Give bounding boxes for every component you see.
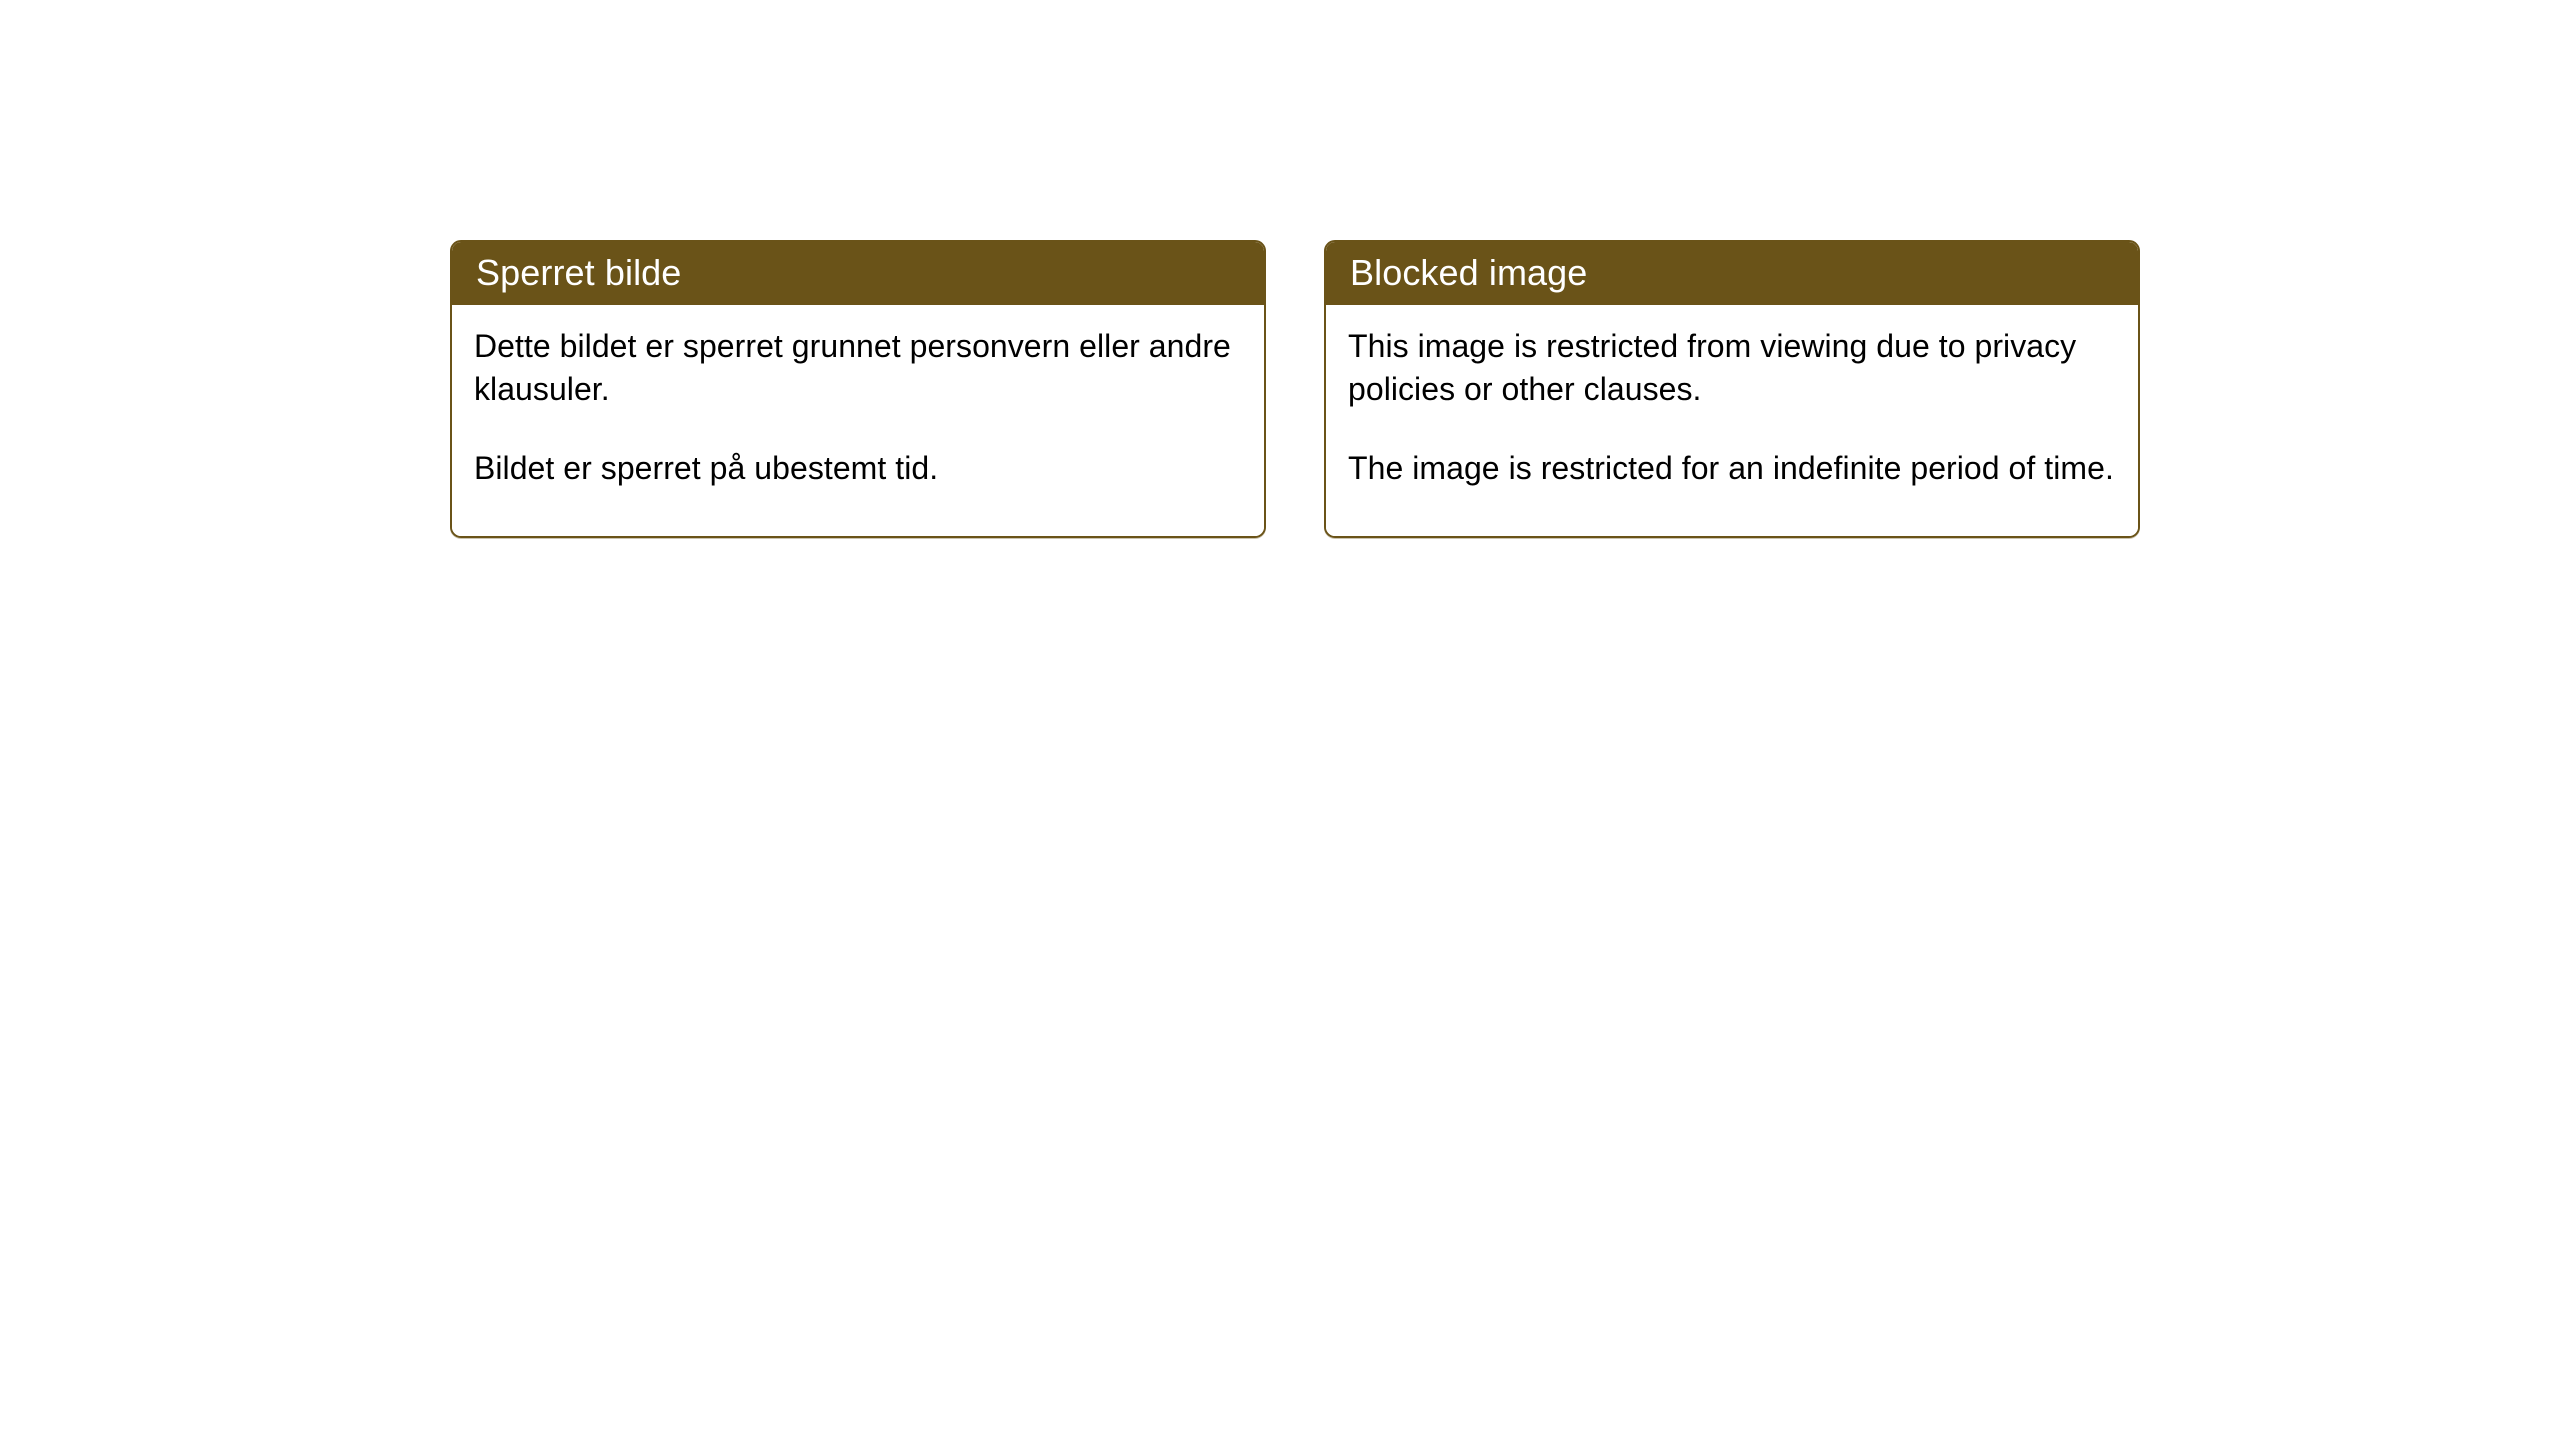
panel-title-norwegian: Sperret bilde <box>452 242 1264 305</box>
blocked-image-panel-english: Blocked image This image is restricted f… <box>1324 240 2140 538</box>
panel-title-english: Blocked image <box>1326 242 2138 305</box>
panel-paragraph-duration-norwegian: Bildet er sperret på ubestemt tid. <box>474 447 1242 490</box>
panel-paragraph-reason-english: This image is restricted from viewing du… <box>1348 325 2116 411</box>
panel-body-norwegian: Dette bildet er sperret grunnet personve… <box>452 305 1264 536</box>
blocked-image-panels: Sperret bilde Dette bildet er sperret gr… <box>450 240 2140 538</box>
panel-paragraph-reason-norwegian: Dette bildet er sperret grunnet personve… <box>474 325 1242 411</box>
panel-paragraph-duration-english: The image is restricted for an indefinit… <box>1348 447 2116 490</box>
panel-body-english: This image is restricted from viewing du… <box>1326 305 2138 536</box>
page-canvas: Sperret bilde Dette bildet er sperret gr… <box>0 0 2560 1440</box>
blocked-image-panel-norwegian: Sperret bilde Dette bildet er sperret gr… <box>450 240 1266 538</box>
